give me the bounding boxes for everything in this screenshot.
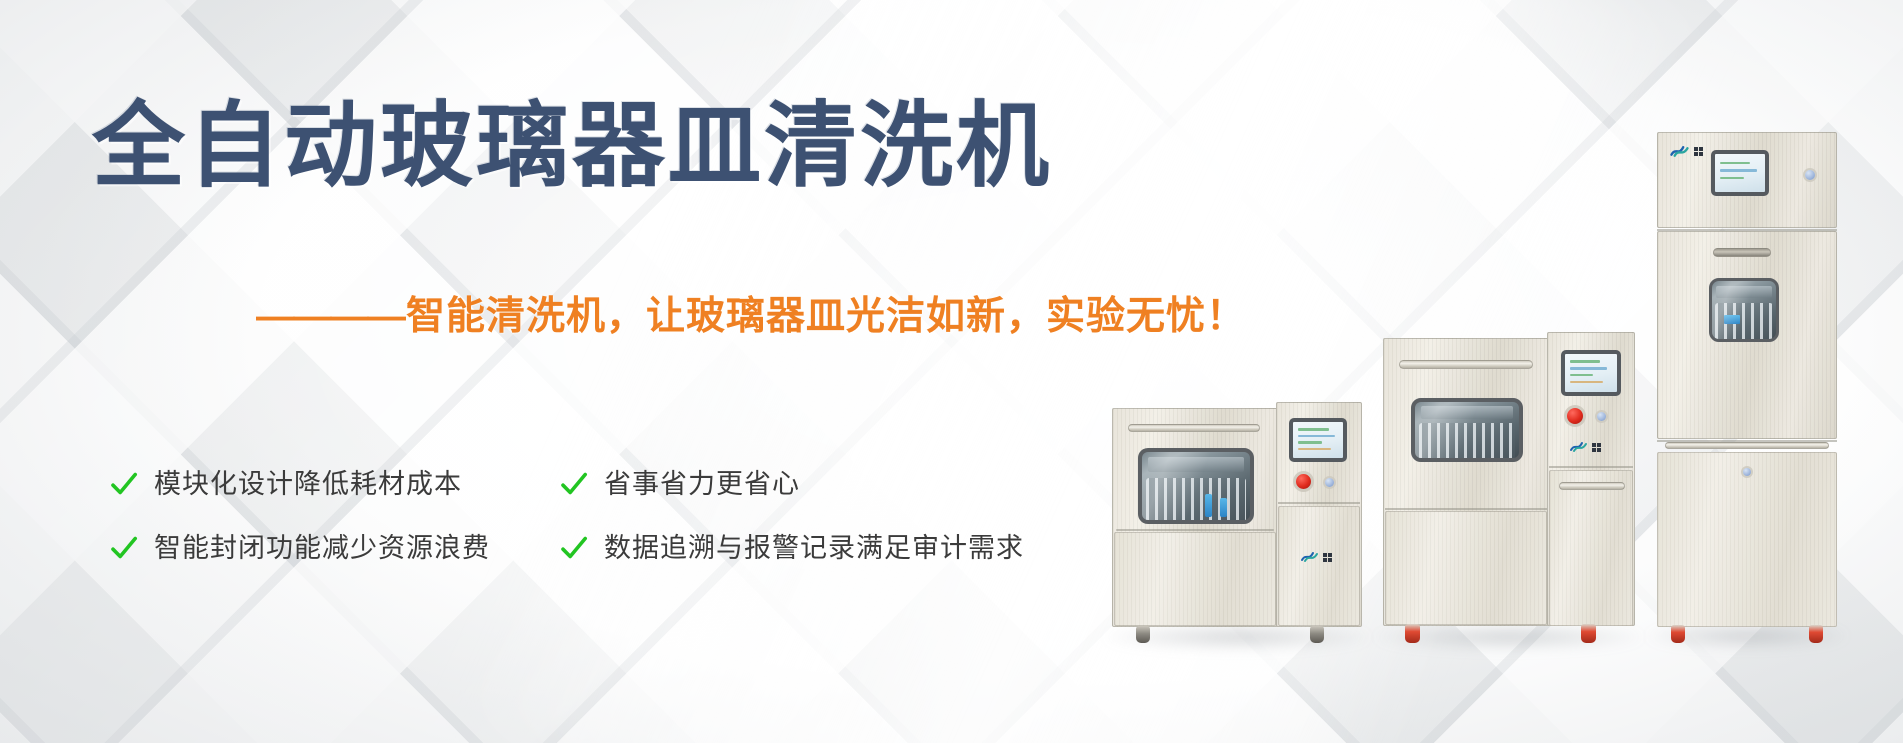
screen-row: [1570, 381, 1603, 384]
screen-row: [1570, 360, 1600, 363]
check-icon: [560, 534, 588, 562]
check-icon: [110, 534, 138, 562]
feature-item: 模块化设计降低耗材成本: [110, 470, 560, 498]
panel-seam: [1385, 508, 1547, 510]
power-button[interactable]: [1597, 412, 1606, 421]
feature-item: 省事省力更省心: [560, 470, 1024, 498]
screen-row: [1720, 177, 1744, 180]
door-handle: [1399, 360, 1533, 369]
door-handle: [1713, 248, 1771, 257]
lower-access-door: [1657, 452, 1837, 627]
grid-mark-icon: [1592, 443, 1601, 452]
chamber-viewing-window: [1138, 448, 1254, 524]
feature-label: 数据追溯与报警记录满足审计需求: [604, 535, 1024, 562]
feature-label: 智能封闭功能减少资源浪费: [154, 535, 490, 562]
screen-row: [1570, 367, 1607, 370]
wave-mark-icon: [1669, 144, 1691, 159]
screen-row: [1298, 435, 1335, 438]
lower-access-door: [1385, 511, 1547, 625]
chamber-viewing-window: [1411, 398, 1523, 462]
feature-label: 省事省力更省心: [604, 471, 800, 498]
touchscreen-display[interactable]: [1561, 350, 1621, 396]
lower-door-handle: [1665, 442, 1829, 449]
screen-row: [1298, 448, 1331, 451]
power-button[interactable]: [1325, 478, 1334, 487]
feature-item: 智能封闭功能减少资源浪费: [110, 534, 560, 562]
feature-list: 模块化设计降低耗材成本 省事省力更省心 智能封闭功能减少资源浪费 数据追溯与报警…: [110, 470, 1024, 562]
panel-seam: [1549, 466, 1633, 468]
subtitle-text: 智能清洗机，让玻璃器皿光洁如新，实验无忧！: [406, 295, 1246, 338]
screen-row: [1720, 169, 1757, 172]
promo-banner: 全自动玻璃器皿清洗机 ————智能清洗机，让玻璃器皿光洁如新，实验无忧！ 模块化…: [0, 0, 1903, 743]
product-tall-column-glassware-washer: [1657, 132, 1837, 632]
door-latch-button[interactable]: [1743, 468, 1751, 476]
blue-tube: [1220, 498, 1228, 517]
check-icon: [560, 470, 588, 498]
grid-mark-icon: [1694, 147, 1703, 156]
caster-wheel: [1671, 625, 1685, 643]
caster-wheel: [1809, 625, 1823, 643]
blue-tube: [1205, 494, 1213, 517]
caster-wheel: [1136, 626, 1150, 643]
product-freestanding-glassware-washer: [1383, 332, 1635, 632]
screen-row: [1298, 441, 1322, 444]
screen-row: [1720, 162, 1750, 165]
page-title: 全自动玻璃器皿清洗机: [92, 98, 1052, 195]
banner-copy: 全自动玻璃器皿清洗机 ————智能清洗机，让玻璃器皿光洁如新，实验无忧！ 模块化…: [0, 0, 1100, 743]
wave-mark-icon: [1300, 550, 1320, 564]
screen-row: [1298, 428, 1329, 431]
panel-seam: [1116, 529, 1274, 531]
emergency-stop-button[interactable]: [1567, 408, 1583, 424]
feature-label: 模块化设计降低耗材成本: [154, 471, 462, 498]
brand-logo: [1300, 550, 1332, 564]
feature-item: 数据追溯与报警记录满足审计需求: [560, 534, 1024, 562]
wave-mark-icon: [1569, 440, 1589, 454]
banner-subtitle: ————智能清洗机，让玻璃器皿光洁如新，实验无忧！: [256, 296, 1246, 339]
service-door-handle: [1559, 482, 1625, 490]
chamber-viewing-window: [1709, 278, 1779, 342]
emergency-stop-button[interactable]: [1296, 474, 1311, 489]
touchscreen-display[interactable]: [1289, 418, 1347, 462]
service-panel: [1278, 506, 1360, 626]
caster-wheel: [1310, 626, 1324, 643]
subtitle-dash: ————: [256, 295, 404, 338]
lower-access-door: [1114, 532, 1276, 626]
power-button[interactable]: [1805, 170, 1815, 180]
product-undercounter-glassware-washer: [1112, 402, 1362, 632]
brand-logo: [1569, 440, 1601, 454]
screen-row: [1570, 374, 1593, 377]
touchscreen-display[interactable]: [1711, 150, 1769, 196]
grid-mark-icon: [1323, 553, 1332, 562]
service-panel: [1549, 470, 1633, 626]
brand-logo: [1669, 144, 1703, 159]
panel-seam: [1278, 502, 1360, 504]
caster-wheel: [1405, 624, 1420, 643]
check-icon: [110, 470, 138, 498]
door-handle: [1128, 424, 1260, 432]
caster-wheel: [1581, 624, 1596, 643]
